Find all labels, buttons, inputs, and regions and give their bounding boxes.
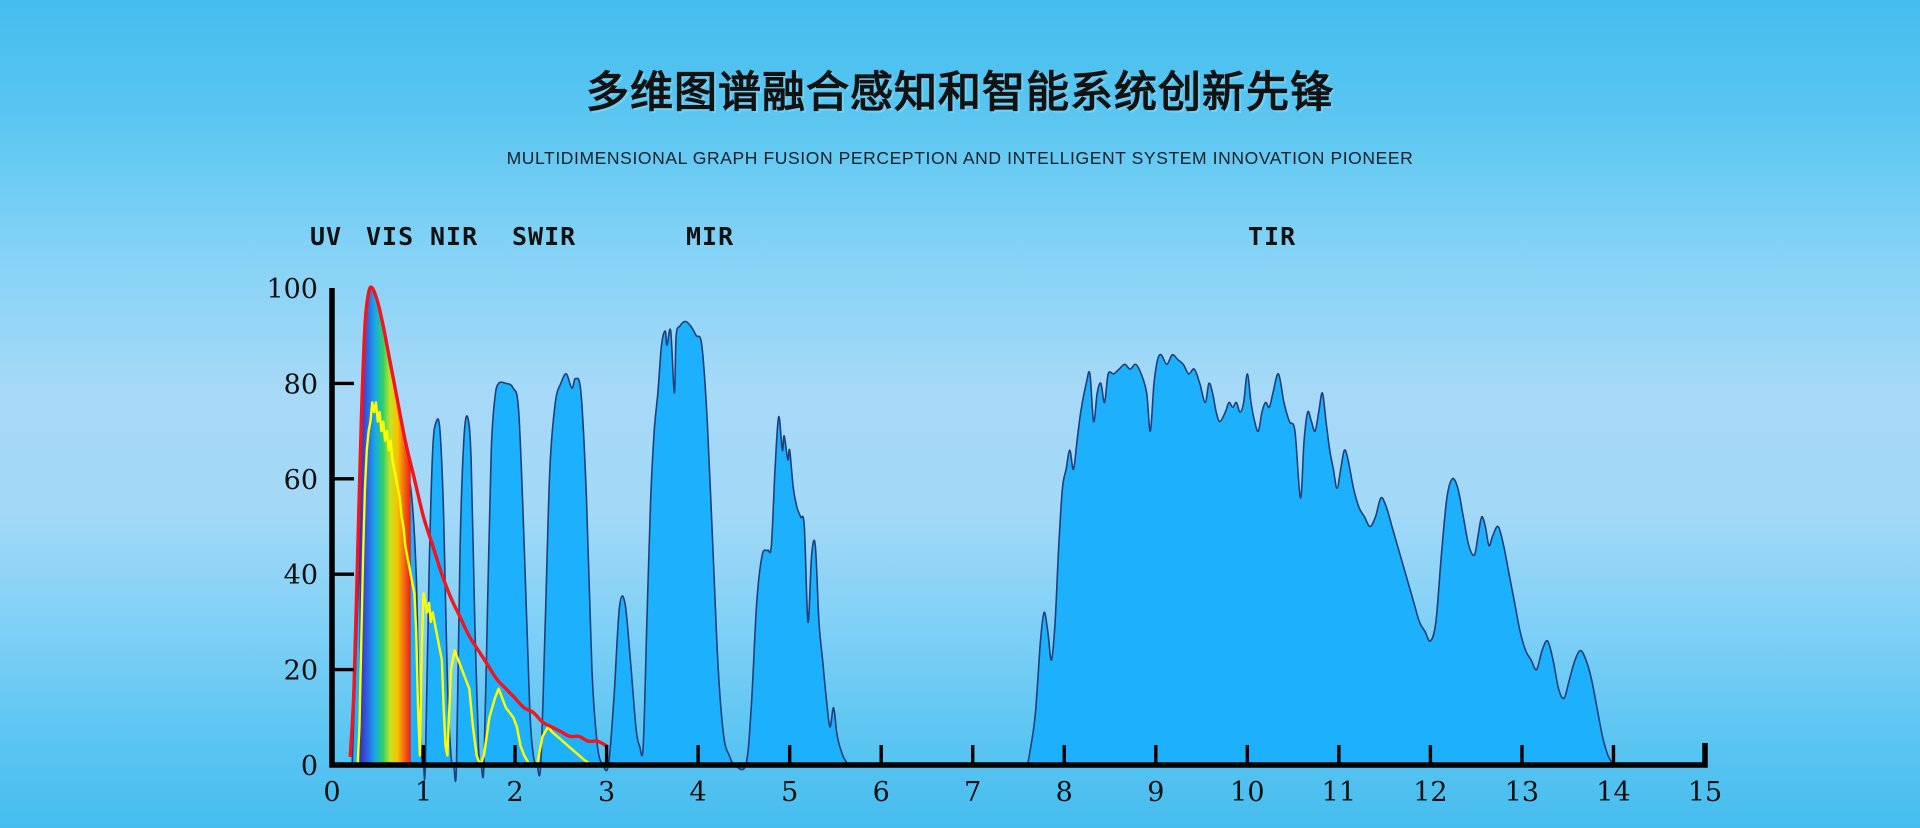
x-tick-label: 2 [506, 777, 523, 808]
x-tick-label: 0 [323, 777, 340, 808]
y-tick-label: 80 [284, 369, 318, 400]
x-tick-label: 1 [415, 777, 432, 808]
y-tick-label: 0 [301, 751, 318, 782]
x-tick-label: 12 [1413, 777, 1447, 808]
y-tick-label: 60 [284, 465, 318, 496]
y-tick-label: 40 [284, 560, 318, 591]
x-tick-label: 10 [1230, 777, 1264, 808]
spectrum-chart: 020406080100 0123456789101112131415 [0, 0, 1920, 828]
x-tick-label: 6 [873, 777, 890, 808]
x-tick-label: 14 [1596, 777, 1630, 808]
transmission-areas [352, 321, 1613, 781]
y-axis-labels: 020406080100 [266, 274, 318, 782]
x-tick-label: 8 [1056, 777, 1073, 808]
x-tick-label: 11 [1322, 777, 1356, 808]
x-tick-label: 3 [598, 777, 615, 808]
x-tick-label: 13 [1505, 777, 1539, 808]
x-tick-label: 4 [690, 777, 707, 808]
x-tick-label: 15 [1688, 777, 1722, 808]
x-tick-label: 5 [781, 777, 798, 808]
x-tick-label: 9 [1147, 777, 1164, 808]
x-axis-labels: 0123456789101112131415 [323, 777, 1722, 808]
x-tick-label: 7 [964, 777, 981, 808]
y-tick-label: 20 [284, 656, 318, 687]
poster-root: 多维图谱融合感知和智能系统创新先锋 MULTIDIMENSIONAL GRAPH… [0, 0, 1920, 828]
y-tick-label: 100 [266, 274, 318, 305]
